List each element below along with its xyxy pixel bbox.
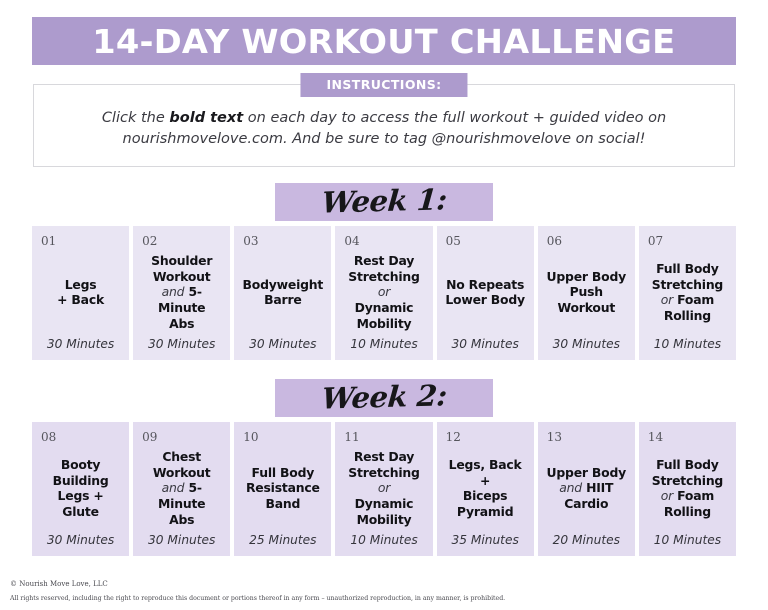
- week-1-banner-label: Week 1:: [320, 182, 448, 219]
- day-card-09[interactable]: 09 Chest Workout and 5-Minute Abs 30 Min…: [133, 422, 230, 556]
- page-header-bar: 14-DAY WORKOUT CHALLENGE: [32, 17, 736, 65]
- footer-copyright: © Nourish Move Love, LLC: [10, 580, 505, 588]
- day-title-line-4: Mobility: [357, 512, 412, 527]
- day-title-line-2: Workout: [153, 465, 211, 480]
- day-title-line-1: Rest Day: [354, 253, 414, 268]
- day-title[interactable]: Rest Day Stretching or Dynamic Mobility: [348, 253, 419, 332]
- day-title-connector: or: [661, 488, 673, 503]
- day-title-block[interactable]: Shoulder Workout and 5-Minute Abs: [139, 247, 224, 338]
- day-title-connector: and: [162, 284, 185, 299]
- day-title-block[interactable]: Booty Building Legs + Glute: [38, 443, 123, 534]
- day-title-connector: or: [378, 480, 390, 495]
- day-title-block[interactable]: No Repeats Lower Body: [443, 247, 528, 338]
- day-card-12[interactable]: 12 Legs, Back + Biceps Pyramid 35 Minute…: [437, 422, 534, 556]
- day-title-line-1: Booty: [61, 457, 100, 472]
- day-number: 01: [38, 235, 123, 247]
- day-title-line-4: Abs: [169, 512, 194, 527]
- day-title-line-4: Rolling: [664, 504, 711, 519]
- day-title-connector: or: [661, 292, 673, 307]
- day-title-line-1: Full Body: [252, 465, 315, 480]
- day-title-line-3: Dynamic: [355, 300, 414, 315]
- footer-rights-notice: All rights reserved, including the right…: [10, 595, 505, 602]
- day-title-line-3: Foam: [677, 488, 714, 503]
- day-title-block[interactable]: Rest Day Stretching or Dynamic Mobility: [341, 247, 426, 338]
- week-2-banner: Week 2:: [275, 379, 493, 417]
- day-card-06[interactable]: 06 Upper Body Push Workout 30 Minutes: [538, 226, 635, 360]
- day-title-line-2: Stretching: [348, 465, 419, 480]
- day-title-line-3: Foam: [677, 292, 714, 307]
- week-2-banner-label: Week 2:: [320, 378, 448, 415]
- day-duration: 10 Minutes: [341, 338, 426, 352]
- day-title[interactable]: Full Body Stretching or Foam Rolling: [652, 457, 723, 521]
- day-title[interactable]: Rest Day Stretching or Dynamic Mobility: [348, 449, 419, 528]
- day-card-05[interactable]: 05 No Repeats Lower Body 30 Minutes: [437, 226, 534, 360]
- day-duration: 10 Minutes: [341, 534, 426, 548]
- day-number: 07: [645, 235, 730, 247]
- day-number: 03: [240, 235, 325, 247]
- footer: © Nourish Move Love, LLC All rights rese…: [10, 580, 505, 602]
- day-duration: 10 Minutes: [645, 534, 730, 548]
- day-title-line-1: Full Body: [656, 457, 719, 472]
- day-card-03[interactable]: 03 Bodyweight Barre 30 Minutes: [234, 226, 331, 360]
- day-title-line-4: Cardio: [564, 496, 608, 511]
- day-title-line-1: Shoulder: [151, 253, 212, 268]
- day-title-line-4: Rolling: [664, 308, 711, 323]
- day-duration: 30 Minutes: [240, 338, 325, 352]
- day-title-line-2: Barre: [264, 292, 301, 307]
- day-title-line-4: Mobility: [357, 316, 412, 331]
- day-title[interactable]: Full Body Stretching or Foam Rolling: [652, 261, 723, 325]
- day-number: 05: [443, 235, 528, 247]
- instructions-text: Click the bold text on each day to acces…: [54, 108, 714, 150]
- day-duration: 30 Minutes: [544, 338, 629, 352]
- day-number: 11: [341, 431, 426, 443]
- day-title-line-2: Building: [53, 473, 109, 488]
- day-number: 08: [38, 431, 123, 443]
- day-title-line-2: + Back: [57, 292, 104, 307]
- day-card-13[interactable]: 13 Upper Body and HIIT Cardio 20 Minutes: [538, 422, 635, 556]
- day-duration: 10 Minutes: [645, 338, 730, 352]
- instructions-text-part-1: Click the: [102, 110, 170, 126]
- day-title[interactable]: Legs, Back + Biceps Pyramid: [444, 457, 527, 521]
- day-title-connector: and: [559, 480, 582, 495]
- day-title-line-1: Chest: [162, 449, 201, 464]
- day-card-14[interactable]: 14 Full Body Stretching or Foam Rolling …: [639, 422, 736, 556]
- week-1-banner-row: Week 1:: [0, 183, 768, 221]
- day-duration: 35 Minutes: [443, 534, 528, 548]
- day-title-line-1: Bodyweight: [243, 277, 324, 292]
- page-title: 14-DAY WORKOUT CHALLENGE: [92, 22, 675, 61]
- day-title-line-1: Legs: [65, 277, 97, 292]
- day-number: 13: [544, 431, 629, 443]
- day-title-line-2: Stretching: [348, 269, 419, 284]
- day-title[interactable]: No Repeats Lower Body: [445, 277, 525, 309]
- day-title-line-4: Abs: [169, 316, 194, 331]
- day-title[interactable]: Chest Workout and 5-Minute Abs: [140, 449, 223, 528]
- day-title-line-1: Upper Body: [547, 465, 627, 480]
- day-title-line-2: Workout: [153, 269, 211, 284]
- day-title[interactable]: Legs + Back: [57, 277, 104, 309]
- week-2-days-row: 08 Booty Building Legs + Glute 30 Minute…: [32, 422, 736, 556]
- day-card-10[interactable]: 10 Full Body Resistance Band 25 Minutes: [234, 422, 331, 556]
- day-title-line-3: Legs + Glute: [58, 488, 104, 519]
- day-title-connector: and: [162, 480, 185, 495]
- day-title-line-2: Stretching: [652, 277, 723, 292]
- day-title-line-3: Pyramid: [457, 504, 514, 519]
- day-title-block[interactable]: Upper Body and HIIT Cardio: [544, 443, 629, 534]
- day-duration: 20 Minutes: [544, 534, 629, 548]
- day-card-04[interactable]: 04 Rest Day Stretching or Dynamic Mobili…: [335, 226, 432, 360]
- day-title-line-1: Legs, Back +: [449, 457, 522, 488]
- day-title-line-1: Upper Body: [547, 269, 627, 284]
- day-title-block[interactable]: Chest Workout and 5-Minute Abs: [139, 443, 224, 534]
- day-title[interactable]: Bodyweight Barre: [243, 277, 324, 309]
- day-duration: 30 Minutes: [38, 534, 123, 548]
- day-title-block[interactable]: Full Body Stretching or Foam Rolling: [645, 247, 730, 338]
- day-title-line-1: Rest Day: [354, 449, 414, 464]
- day-title-line-3: Dynamic: [355, 496, 414, 511]
- day-title-line-2: Push: [570, 284, 603, 299]
- day-title-line-3: HIIT: [586, 480, 613, 495]
- day-title-block[interactable]: Legs + Back: [38, 247, 123, 338]
- day-number: 09: [139, 431, 224, 443]
- day-number: 06: [544, 235, 629, 247]
- week-1-days-row: 01 Legs + Back 30 Minutes 02 Shoulder Wo…: [32, 226, 736, 360]
- week-1-banner: Week 1:: [275, 183, 493, 221]
- day-number: 10: [240, 431, 325, 443]
- day-title-line-3: Workout: [557, 300, 615, 315]
- day-duration: 30 Minutes: [139, 534, 224, 548]
- week-2-banner-row: Week 2:: [0, 379, 768, 417]
- day-title-line-2: Resistance: [246, 480, 320, 495]
- instructions-label: INSTRUCTIONS:: [300, 73, 467, 97]
- day-title[interactable]: Full Body Resistance Band: [246, 465, 320, 513]
- day-title[interactable]: Shoulder Workout and 5-Minute Abs: [140, 253, 223, 332]
- day-number: 14: [645, 431, 730, 443]
- day-title-block[interactable]: Full Body Stretching or Foam Rolling: [645, 443, 730, 534]
- day-duration: 30 Minutes: [38, 338, 123, 352]
- day-number: 02: [139, 235, 224, 247]
- day-title-line-2: Lower Body: [445, 292, 525, 307]
- day-title[interactable]: Upper Body Push Workout: [547, 269, 627, 317]
- day-title-block[interactable]: Upper Body Push Workout: [544, 247, 629, 338]
- instructions-section: INSTRUCTIONS: Click the bold text on eac…: [33, 84, 735, 167]
- day-title-connector: or: [378, 284, 390, 299]
- day-title[interactable]: Upper Body and HIIT Cardio: [547, 465, 627, 513]
- day-number: 12: [443, 431, 528, 443]
- day-card-11[interactable]: 11 Rest Day Stretching or Dynamic Mobili…: [335, 422, 432, 556]
- day-title-line-2: Biceps: [463, 488, 508, 503]
- day-duration: 30 Minutes: [139, 338, 224, 352]
- day-title-line-1: Full Body: [656, 261, 719, 276]
- day-title-block[interactable]: Legs, Back + Biceps Pyramid: [443, 443, 528, 534]
- day-duration: 25 Minutes: [240, 534, 325, 548]
- day-title-block[interactable]: Full Body Resistance Band: [240, 443, 325, 534]
- day-card-02[interactable]: 02 Shoulder Workout and 5-Minute Abs 30 …: [133, 226, 230, 360]
- day-title-block[interactable]: Bodyweight Barre: [240, 247, 325, 338]
- instructions-bold-text: bold text: [169, 110, 243, 126]
- day-duration: 30 Minutes: [443, 338, 528, 352]
- day-title-line-3: Band: [266, 496, 301, 511]
- day-card-08[interactable]: 08 Booty Building Legs + Glute 30 Minute…: [32, 422, 129, 556]
- day-number: 04: [341, 235, 426, 247]
- day-title[interactable]: Booty Building Legs + Glute: [39, 457, 122, 521]
- day-card-01[interactable]: 01 Legs + Back 30 Minutes: [32, 226, 129, 360]
- day-title-line-2: Stretching: [652, 473, 723, 488]
- day-card-07[interactable]: 07 Full Body Stretching or Foam Rolling …: [639, 226, 736, 360]
- day-title-line-1: No Repeats: [446, 277, 524, 292]
- day-title-block[interactable]: Rest Day Stretching or Dynamic Mobility: [341, 443, 426, 534]
